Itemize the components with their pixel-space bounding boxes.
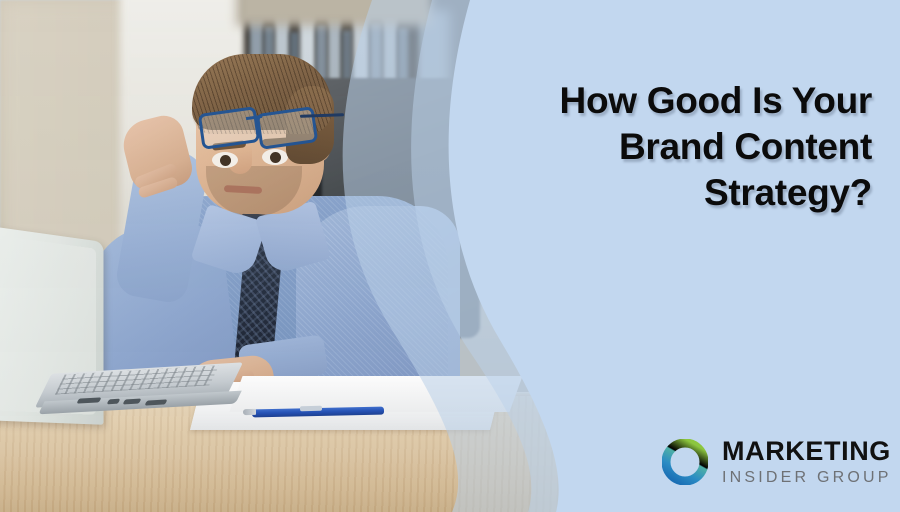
headline-line-3: Strategy? <box>452 170 872 216</box>
banner-canvas: How Good Is Your Brand Content Strategy?… <box>0 0 900 512</box>
page-title: How Good Is Your Brand Content Strategy? <box>452 78 872 216</box>
ring-gradient-icon <box>662 439 708 485</box>
brand-logo[interactable]: MARKETING INSIDER GROUP <box>662 438 892 486</box>
brand-name-primary: MARKETING <box>722 438 892 465</box>
brand-name-secondary: INSIDER GROUP <box>722 470 892 486</box>
headline-line-1: How Good Is Your <box>452 78 872 124</box>
headline-line-2: Brand Content <box>452 124 872 170</box>
brand-logo-text: MARKETING INSIDER GROUP <box>722 438 892 486</box>
